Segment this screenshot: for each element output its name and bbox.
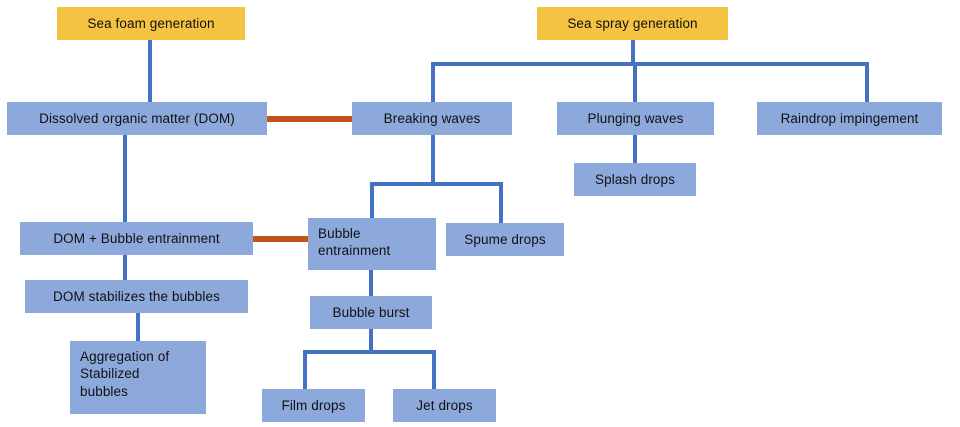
- node-label-raindrop-impingement: Raindrop impingement: [781, 110, 919, 127]
- node-breaking-waves[interactable]: Breaking waves: [352, 102, 512, 135]
- conn-dombubble-to-stabilizes: [123, 255, 127, 282]
- node-jet-drops[interactable]: Jet drops: [393, 389, 496, 422]
- conn-bus-to-jet: [432, 350, 436, 391]
- node-spume-drops[interactable]: Spume drops: [446, 223, 564, 256]
- conn-spray-bus: [431, 62, 869, 66]
- node-bubble-burst[interactable]: Bubble burst: [310, 296, 432, 329]
- node-splash-drops[interactable]: Splash drops: [574, 163, 696, 196]
- node-label-splash-drops: Splash drops: [595, 171, 675, 188]
- node-label-sea-spray-generation: Sea spray generation: [567, 15, 697, 32]
- conn-seafoam-to-dom: [148, 40, 152, 103]
- node-film-drops[interactable]: Film drops: [262, 389, 365, 422]
- flowchart-canvas: Sea foam generationSea spray generationD…: [0, 0, 960, 427]
- node-label-plunging-waves: Plunging waves: [588, 110, 684, 127]
- conn-bus-to-plunging: [633, 62, 637, 103]
- node-raindrop-impingement[interactable]: Raindrop impingement: [757, 102, 942, 135]
- node-label-sea-foam-generation: Sea foam generation: [87, 15, 214, 32]
- node-bubble-entrainment[interactable]: Bubble entrainment: [308, 218, 436, 270]
- node-label-bubble-entrainment: Bubble entrainment: [318, 225, 390, 260]
- conn-breaking-down: [431, 135, 435, 186]
- node-label-aggregation-stabilized-bubbles: Aggregation of Stabilized bubbles: [80, 348, 169, 400]
- conn-breaking-bus: [370, 182, 503, 186]
- node-label-spume-drops: Spume drops: [464, 231, 545, 248]
- node-plunging-waves[interactable]: Plunging waves: [557, 102, 714, 135]
- conn-dom-orange-breaking: [265, 116, 355, 122]
- conn-bus-to-breaking: [431, 62, 435, 103]
- node-aggregation-stabilized-bubbles[interactable]: Aggregation of Stabilized bubbles: [70, 341, 206, 414]
- node-label-dom-bubble-entrainment: DOM + Bubble entrainment: [53, 230, 219, 247]
- node-label-film-drops: Film drops: [281, 397, 345, 414]
- node-sea-foam-generation[interactable]: Sea foam generation: [57, 7, 245, 40]
- node-dissolved-organic-matter[interactable]: Dissolved organic matter (DOM): [7, 102, 267, 135]
- conn-bubble-to-burst: [369, 270, 373, 298]
- node-dom-bubble-entrainment[interactable]: DOM + Bubble entrainment: [20, 222, 253, 255]
- conn-bus-to-raindrop: [865, 62, 869, 103]
- conn-bus-to-film: [303, 350, 307, 391]
- node-dom-stabilizes-bubbles[interactable]: DOM stabilizes the bubbles: [25, 280, 248, 313]
- node-label-jet-drops: Jet drops: [416, 397, 472, 414]
- node-label-dissolved-organic-matter: Dissolved organic matter (DOM): [39, 110, 235, 127]
- conn-bus-to-spume: [499, 182, 503, 224]
- conn-dom-down: [123, 135, 127, 223]
- node-sea-spray-generation[interactable]: Sea spray generation: [537, 7, 728, 40]
- node-label-dom-stabilizes-bubbles: DOM stabilizes the bubbles: [53, 288, 220, 305]
- node-label-bubble-burst: Bubble burst: [333, 304, 410, 321]
- conn-burst-bus: [303, 350, 436, 354]
- conn-dombubble-orange-bubble: [251, 236, 311, 242]
- conn-plunging-to-splash: [633, 135, 637, 165]
- node-label-breaking-waves: Breaking waves: [384, 110, 481, 127]
- conn-stabilizes-to-aggregation: [136, 313, 140, 343]
- conn-bus-to-bubble-entrainment: [370, 182, 374, 220]
